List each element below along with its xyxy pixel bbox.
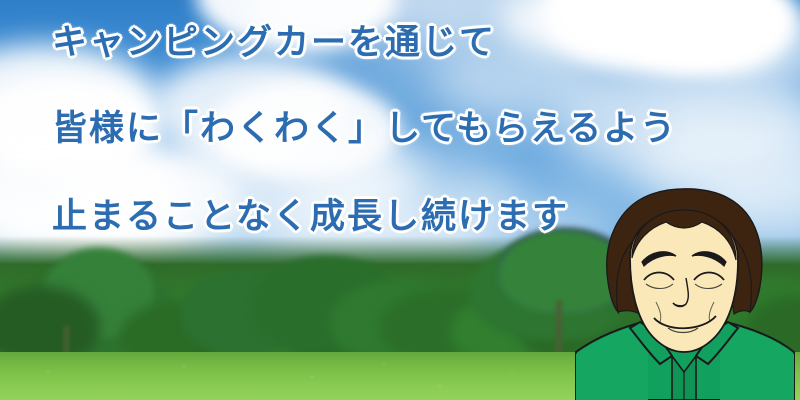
person-illustration [568,186,800,400]
hero-banner: キャンピングカーを通じて 皆様に「わくわく」してもらえるよう 止まることなく成長… [0,0,800,400]
headline-line-2: 皆様に「わくわく」してもらえるよう [52,100,677,151]
headline-line-3: 止まることなく成長し続けます [52,188,569,239]
headline-line-1: キャンピングカーを通じて [52,14,496,65]
